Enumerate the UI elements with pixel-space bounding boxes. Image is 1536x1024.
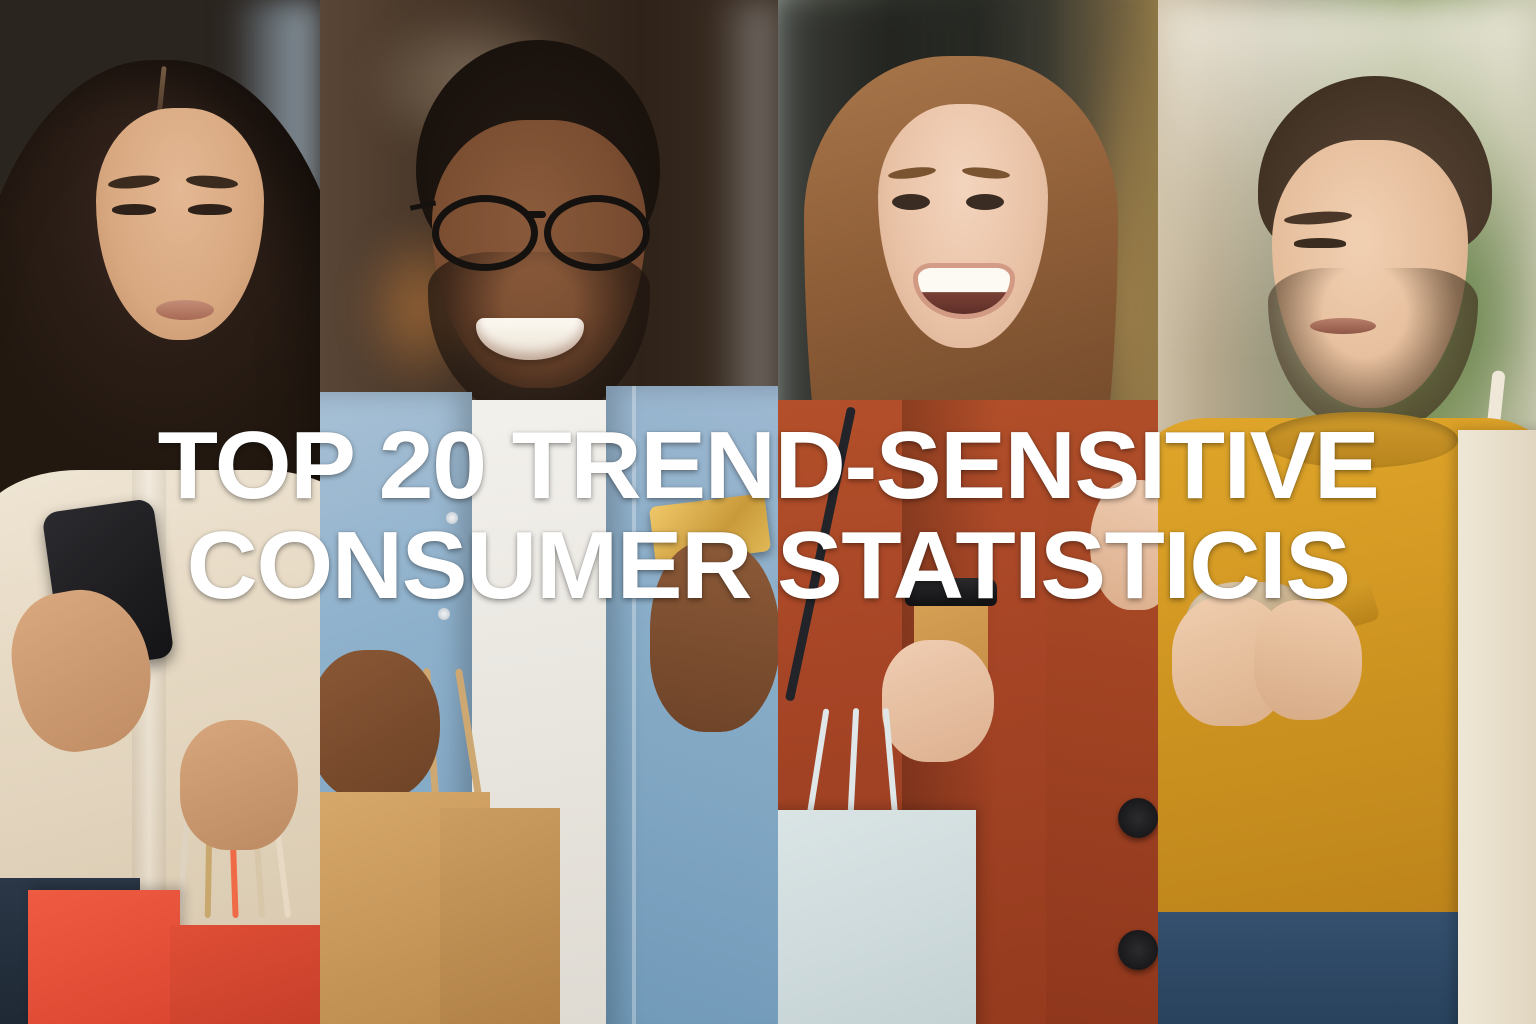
panel-man-with-credit-card xyxy=(320,0,778,1024)
cream-tote-bag xyxy=(1458,430,1536,1024)
hand-holding-pastry-right xyxy=(1254,600,1362,720)
red-shopping-bag xyxy=(170,925,320,1024)
eye-right xyxy=(188,204,232,215)
scene-3 xyxy=(778,0,1158,1024)
glasses-bridge xyxy=(524,211,546,218)
eye-right xyxy=(966,194,1004,210)
red-shopping-bag xyxy=(28,890,180,1024)
jacket-stud xyxy=(438,608,450,620)
scene-2 xyxy=(320,0,778,1024)
coat-button xyxy=(1118,930,1158,970)
eye-left xyxy=(112,204,156,215)
scene-1 xyxy=(0,0,320,1024)
panel-woman-with-coffee xyxy=(778,0,1158,1024)
hand-holding-bags xyxy=(180,720,298,850)
eyeglasses-icon xyxy=(424,195,660,257)
coat-button xyxy=(1118,798,1158,838)
panel-woman-with-smartphone xyxy=(0,0,320,1024)
photo-strip xyxy=(0,0,1536,1024)
kraft-shopping-bag xyxy=(440,808,560,1024)
banner-image: TOP 20 TREND-SENSITIVE CONSUMER STATISTI… xyxy=(0,0,1536,1024)
panel-man-with-pastry xyxy=(1158,0,1536,1024)
hand-holding-bags xyxy=(320,650,440,800)
jacket-stud xyxy=(446,512,458,524)
scene-4 xyxy=(1158,0,1536,1024)
mouth xyxy=(1310,318,1376,334)
eye xyxy=(1294,238,1346,248)
jeans xyxy=(1158,912,1462,1024)
pale-blue-shopping-bag xyxy=(778,810,976,1024)
eye-left xyxy=(892,194,930,210)
hand-holding-card xyxy=(650,542,778,732)
lips xyxy=(156,300,214,320)
sweater-collar xyxy=(1262,412,1458,468)
glasses-lens-right xyxy=(544,195,650,271)
glasses-lens-left xyxy=(432,195,538,271)
